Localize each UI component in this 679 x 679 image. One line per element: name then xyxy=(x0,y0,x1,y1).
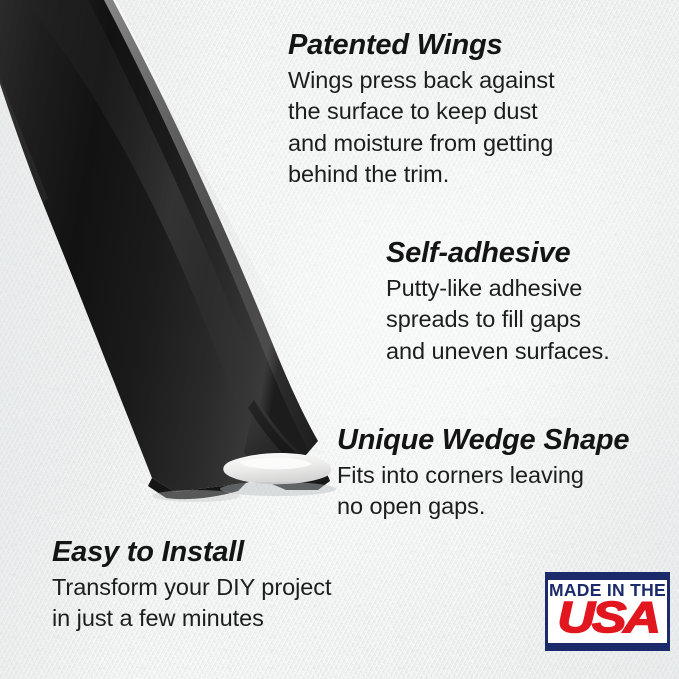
body-line: and uneven surfaces. xyxy=(386,336,610,367)
feature-heading-patented-wings: Patented Wings xyxy=(288,30,555,60)
feature-body-easy-to-install: Transform your DIY project in just a few… xyxy=(52,572,331,635)
body-line: and moisture from getting xyxy=(288,128,555,159)
feature-patented-wings: Patented Wings Wings press back against … xyxy=(288,30,555,190)
body-line: the surface to keep dust xyxy=(288,96,555,127)
body-line: Transform your DIY project xyxy=(52,572,331,603)
badge-line-usa: USA xyxy=(557,598,658,638)
body-line: Fits into corners leaving xyxy=(337,460,629,491)
feature-heading-easy-to-install: Easy to Install xyxy=(52,537,331,567)
product-infographic-image: Patented Wings Wings press back against … xyxy=(0,0,679,679)
feature-heading-self-adhesive: Self-adhesive xyxy=(386,238,610,268)
made-in-the-usa-badge: MADE IN THE USA xyxy=(545,572,670,651)
body-line: Putty-like adhesive xyxy=(386,273,610,304)
feature-body-unique-wedge-shape: Fits into corners leaving no open gaps. xyxy=(337,460,629,523)
feature-self-adhesive: Self-adhesive Putty-like adhesive spread… xyxy=(386,238,610,367)
feature-easy-to-install: Easy to Install Transform your DIY proje… xyxy=(52,537,331,635)
body-line: spreads to fill gaps xyxy=(386,304,610,335)
feature-unique-wedge-shape: Unique Wedge Shape Fits into corners lea… xyxy=(337,425,629,523)
body-line: behind the trim. xyxy=(288,159,555,190)
feature-body-patented-wings: Wings press back against the surface to … xyxy=(288,65,555,190)
body-line: Wings press back against xyxy=(288,65,555,96)
body-line: in just a few minutes xyxy=(52,603,331,634)
feature-heading-unique-wedge-shape: Unique Wedge Shape xyxy=(337,425,629,455)
body-line: no open gaps. xyxy=(337,491,629,522)
feature-body-self-adhesive: Putty-like adhesive spreads to fill gaps… xyxy=(386,273,610,367)
